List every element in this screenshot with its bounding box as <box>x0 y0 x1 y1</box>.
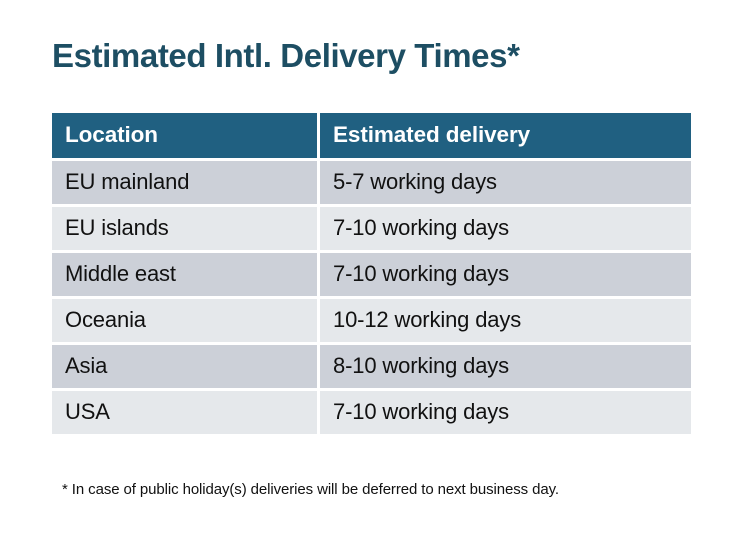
cell-estimated-delivery: 7-10 working days <box>320 207 691 250</box>
cell-estimated-delivery: 7-10 working days <box>320 391 691 434</box>
cell-location: EU islands <box>52 207 317 250</box>
cell-estimated-delivery: 10-12 working days <box>320 299 691 342</box>
cell-location: Middle east <box>52 253 317 296</box>
column-header-location: Location <box>52 113 317 158</box>
table-row: Oceania 10-12 working days <box>52 299 691 342</box>
cell-location: USA <box>52 391 317 434</box>
delivery-times-table: Location Estimated delivery EU mainland … <box>49 110 694 437</box>
cell-location: EU mainland <box>52 161 317 204</box>
cell-estimated-delivery: 8-10 working days <box>320 345 691 388</box>
table-header-row: Location Estimated delivery <box>52 113 691 158</box>
cell-location: Asia <box>52 345 317 388</box>
column-header-estimated-delivery: Estimated delivery <box>320 113 691 158</box>
page-title: Estimated Intl. Delivery Times* <box>52 38 520 74</box>
table-header: Location Estimated delivery <box>52 113 691 158</box>
table-body: EU mainland 5-7 working days EU islands … <box>52 161 691 434</box>
table-row: EU islands 7-10 working days <box>52 207 691 250</box>
cell-estimated-delivery: 7-10 working days <box>320 253 691 296</box>
footnote-text: * In case of public holiday(s) deliverie… <box>62 481 559 498</box>
cell-estimated-delivery: 5-7 working days <box>320 161 691 204</box>
delivery-times-page: Estimated Intl. Delivery Times* Location… <box>0 0 745 536</box>
table-row: Asia 8-10 working days <box>52 345 691 388</box>
table-row: EU mainland 5-7 working days <box>52 161 691 204</box>
cell-location: Oceania <box>52 299 317 342</box>
table-row: USA 7-10 working days <box>52 391 691 434</box>
table-row: Middle east 7-10 working days <box>52 253 691 296</box>
